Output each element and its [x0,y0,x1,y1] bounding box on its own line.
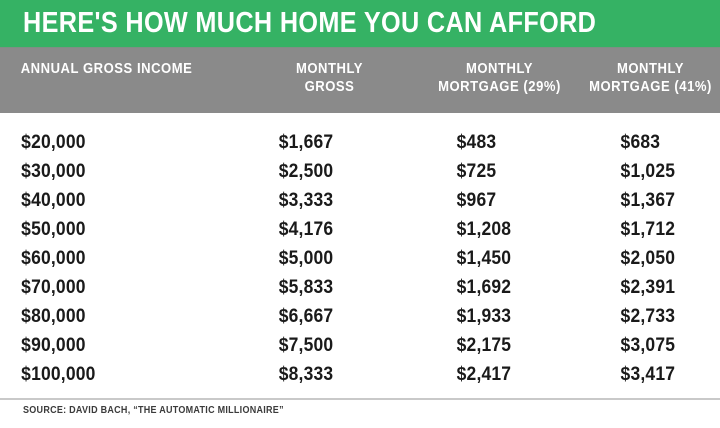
cell-monthly-mortgage-29: $483 [418,128,568,157]
column-header-monthly-mortgage-29: MONTHLY MORTGAGE (29%) [426,60,573,96]
table-row: $70,000 $5,833 $1,692 $2,391 [0,273,720,302]
table-row: $40,000 $3,333 $967 $1,367 [0,186,720,215]
table-row: $80,000 $6,667 $1,933 $2,733 [0,302,720,331]
column-header-line1: MONTHLY [426,60,573,78]
cell-monthly-mortgage-29: $2,417 [418,360,568,389]
column-header-monthly-gross: MONTHLY GROSS [250,60,409,96]
cell-monthly-mortgage-41: $3,075 [581,331,709,360]
column-header-annual-gross-income: ANNUAL GROSS INCOME [0,60,217,78]
cell-monthly-gross: $1,667 [241,128,404,157]
cell-monthly-gross: $6,667 [241,302,404,331]
cell-monthly-gross: $8,333 [241,360,404,389]
cell-monthly-mortgage-41: $3,417 [581,360,709,389]
column-header-line2: GROSS [250,78,409,96]
column-header-line2: MORTGAGE (29%) [426,78,573,96]
table-header-band: ANNUAL GROSS INCOME MONTHLY GROSS MONTHL… [0,47,720,113]
column-header-line2: MORTGAGE (41%) [588,78,713,96]
column-header-line1: MONTHLY [250,60,409,78]
cell-monthly-mortgage-29: $725 [418,157,568,186]
cell-annual-gross-income: $70,000 [0,273,222,302]
cell-monthly-mortgage-41: $1,712 [581,215,709,244]
cell-annual-gross-income: $100,000 [0,360,222,389]
table-row: $90,000 $7,500 $2,175 $3,075 [0,331,720,360]
cell-monthly-gross: $5,833 [241,273,404,302]
cell-monthly-mortgage-29: $1,692 [418,273,568,302]
cell-monthly-mortgage-41: $2,733 [581,302,709,331]
table-row: $60,000 $5,000 $1,450 $2,050 [0,244,720,273]
cell-annual-gross-income: $40,000 [0,186,222,215]
cell-monthly-mortgage-29: $1,450 [418,244,568,273]
table-row: $30,000 $2,500 $725 $1,025 [0,157,720,186]
cell-monthly-gross: $7,500 [241,331,404,360]
cell-monthly-mortgage-41: $1,025 [581,157,709,186]
cell-monthly-gross: $2,500 [241,157,404,186]
page-title: HERE'S HOW MUCH HOME YOU CAN AFFORD [23,9,596,38]
column-header-line1: MONTHLY [588,60,713,78]
infographic-table: HERE'S HOW MUCH HOME YOU CAN AFFORD ANNU… [0,0,720,428]
cell-monthly-gross: $3,333 [241,186,404,215]
cell-annual-gross-income: $60,000 [0,244,222,273]
column-header-monthly-mortgage-41: MONTHLY MORTGAGE (41%) [588,60,713,96]
cell-monthly-mortgage-41: $1,367 [581,186,709,215]
cell-monthly-mortgage-29: $967 [418,186,568,215]
cell-monthly-gross: $4,176 [241,215,404,244]
table-row: $50,000 $4,176 $1,208 $1,712 [0,215,720,244]
cell-monthly-mortgage-29: $2,175 [418,331,568,360]
cell-monthly-mortgage-29: $1,933 [418,302,568,331]
cell-monthly-mortgage-41: $683 [581,128,709,157]
table-row: $100,000 $8,333 $2,417 $3,417 [0,360,720,389]
title-band: HERE'S HOW MUCH HOME YOU CAN AFFORD [0,0,720,47]
table-header-row: ANNUAL GROSS INCOME MONTHLY GROSS MONTHL… [0,48,720,113]
table-row: $20,000 $1,667 $483 $683 [0,112,720,157]
cell-monthly-gross: $5,000 [241,244,404,273]
column-header-line1: ANNUAL GROSS INCOME [21,60,217,78]
table-body: $20,000 $1,667 $483 $683 $30,000 $2,500 … [0,112,720,389]
source-note: SOURCE: DAVID BACH, “THE AUTOMATIC MILLI… [23,405,284,417]
footer-divider [0,398,720,400]
cell-monthly-mortgage-29: $1,208 [418,215,568,244]
cell-annual-gross-income: $90,000 [0,331,222,360]
cell-annual-gross-income: $20,000 [0,128,222,157]
cell-annual-gross-income: $80,000 [0,302,222,331]
cell-annual-gross-income: $50,000 [0,215,222,244]
cell-monthly-mortgage-41: $2,050 [581,244,709,273]
cell-monthly-mortgage-41: $2,391 [581,273,709,302]
cell-annual-gross-income: $30,000 [0,157,222,186]
